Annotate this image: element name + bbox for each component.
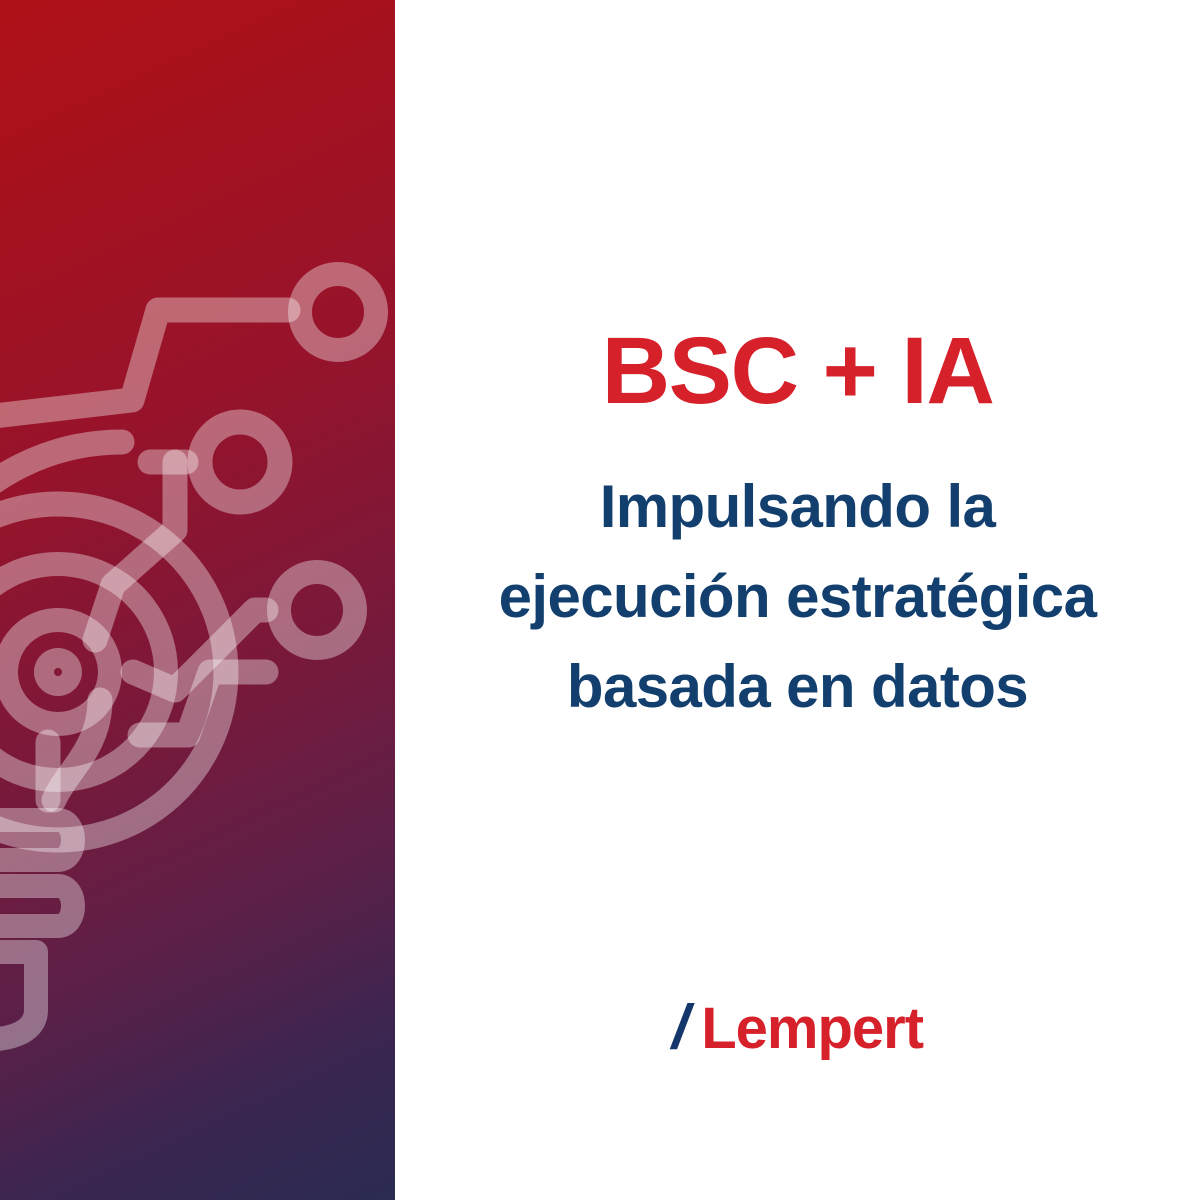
content-panel: BSC + IA Impulsando la ejecución estraté… [395, 0, 1200, 1200]
circuit-nodes [200, 274, 376, 648]
circuit-node-bottom-icon [279, 572, 355, 648]
bulb-base-thread-2 [0, 886, 73, 926]
lightbulb-circuit-illustration [0, 0, 395, 1200]
subtitle-block: Impulsando la ejecución estratégica basa… [440, 462, 1155, 732]
logo-wordmark: Lempert [701, 1000, 923, 1058]
page-title: BSC + IA [395, 322, 1200, 421]
circuit-node-middle-icon [200, 422, 280, 502]
logo-slash-icon: / [672, 997, 689, 1059]
subtitle-line-3: basada en datos [440, 642, 1155, 732]
subtitle-line-1: Impulsando la [440, 462, 1155, 552]
bulb-base-tip [0, 952, 36, 1040]
circuit-node-top-icon [300, 274, 376, 350]
brand-logo: / Lempert [395, 998, 1200, 1060]
slide-canvas: BSC + IA Impulsando la ejecución estraté… [0, 0, 1200, 1200]
subtitle-line-2: ejecución estratégica [440, 552, 1155, 642]
gradient-graphic-panel [0, 0, 395, 1200]
bulb-glow-core [44, 658, 72, 686]
